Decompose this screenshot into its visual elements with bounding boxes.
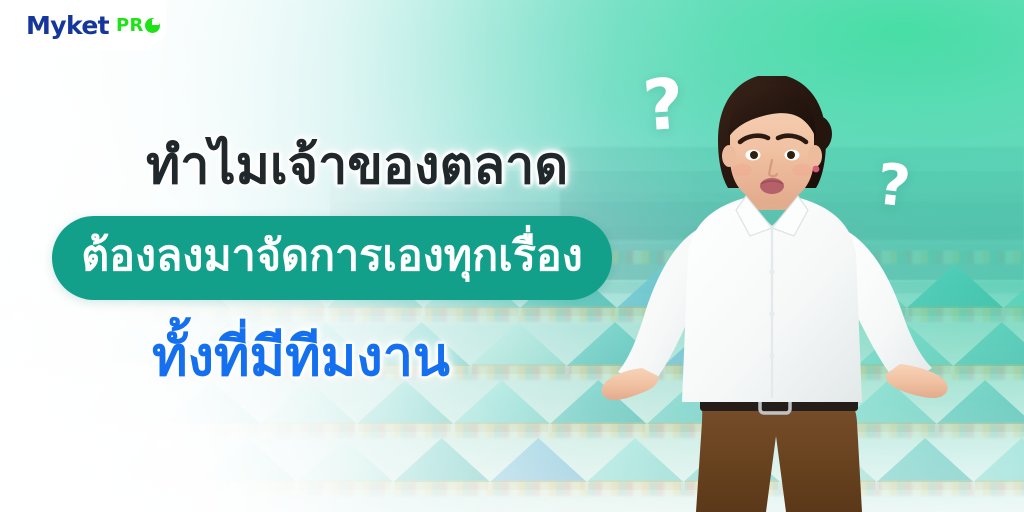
right-hand	[886, 364, 948, 398]
headline-line-3: ทั้งที่มีทีมงาน	[152, 330, 450, 384]
headline-pill-text: ต้องลงมาจัดการเองทุกเรื่อง	[81, 235, 583, 282]
headline-block: ทำไมเจ้าของตลาด ต้องลงมาจัดการเองทุกเรื่…	[0, 0, 660, 512]
logo-wordmark: Myket	[26, 13, 109, 38]
businesswoman-figure	[600, 76, 1024, 512]
eye-left	[750, 151, 758, 159]
headline-pill: ต้องลงมาจัดการเองทุกเรื่อง	[52, 216, 612, 300]
logo-badge[interactable]: Myket PR	[0, 0, 166, 51]
eye-right	[787, 151, 795, 159]
earring	[813, 166, 820, 173]
logo-pro-label: PR	[116, 17, 159, 35]
headline-line-1: ทำไมเจ้าของตลาด	[146, 140, 568, 192]
logo-pro-text: PR	[116, 17, 143, 35]
pie-chart-icon	[145, 18, 160, 33]
promo-banner: ? ?	[0, 0, 1024, 512]
